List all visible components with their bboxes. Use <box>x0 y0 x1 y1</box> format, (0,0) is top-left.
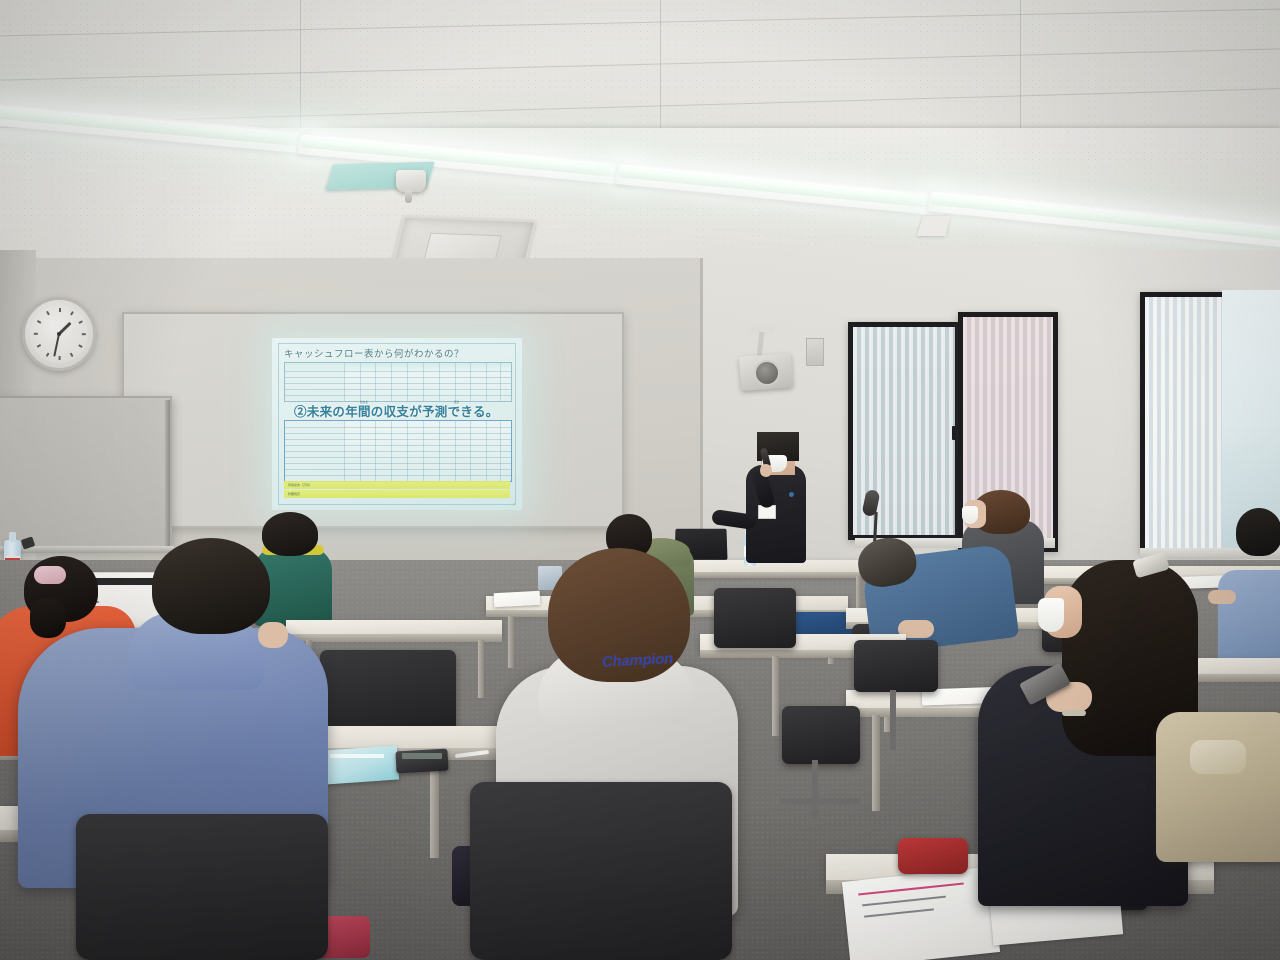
whiteboard-edge <box>165 400 170 548</box>
chair[interactable] <box>714 588 796 648</box>
beige-jacket-on-chair <box>1156 712 1280 862</box>
ceiling-tile-line <box>660 0 661 130</box>
slide-title: キャッシュフロー表から何がわかるの？ <box>284 346 464 360</box>
ceiling-sensor-icon <box>396 170 426 192</box>
slide-highlight-row-2: 貯蓄残高 <box>284 490 510 498</box>
attendee-back-right-hand <box>1208 590 1236 604</box>
chair-leg <box>890 690 896 750</box>
attendee-green-hair <box>262 512 318 556</box>
bracelet <box>1062 710 1086 716</box>
desk-leg <box>872 715 880 811</box>
attendee-blue-hoodie-hair <box>152 538 270 634</box>
chair[interactable] <box>76 814 328 960</box>
lapel-pin-icon <box>789 492 794 497</box>
presenter-hand <box>760 464 772 477</box>
wall-clock <box>22 297 96 371</box>
slide-highlight-label-1: 年間収支（万円） <box>288 483 312 487</box>
desk-leg <box>508 616 514 668</box>
projector-lens-icon <box>754 360 780 386</box>
attendee-back-right-body <box>1218 570 1280 662</box>
chair[interactable] <box>782 706 860 764</box>
brochure-band <box>330 754 384 758</box>
light-connector <box>917 216 951 236</box>
handout-paper[interactable] <box>494 591 541 607</box>
chair[interactable] <box>854 640 938 692</box>
attendee-back-right-hair <box>1236 508 1280 556</box>
chair-leg <box>812 760 818 818</box>
desk-leg <box>478 640 484 698</box>
clock-face <box>30 305 88 363</box>
calculator-display <box>402 753 442 759</box>
window-blinds[interactable] <box>1145 297 1231 549</box>
desk-leg <box>856 576 861 608</box>
face-mask-icon <box>1038 598 1064 632</box>
clock-minute-hand <box>53 334 60 357</box>
window-glass <box>1145 297 1231 549</box>
chair[interactable] <box>470 782 732 960</box>
slide-highlight-row-1: 年間収支（万円） <box>284 481 510 489</box>
slide-page-number: 7 <box>513 503 515 507</box>
chair[interactable] <box>320 650 456 736</box>
clock-center-pin <box>57 332 61 336</box>
seminar-room-photo: キャッシュフロー表から何がわかるの？ 収支表 累計 ②未来の年間の収支が予測でき… <box>0 0 1280 960</box>
desk-leg <box>430 758 439 858</box>
ceiling-tile-line <box>1020 0 1021 130</box>
slide-main-point: ②未来の年間の収支が予測できる。 <box>294 401 499 420</box>
window-handle[interactable] <box>952 426 956 440</box>
face-mask-icon <box>962 506 978 524</box>
ceiling-tile-line <box>300 0 301 130</box>
whiteboard <box>0 396 172 550</box>
ceiling-sensor-stem <box>405 190 412 203</box>
desk-leg <box>772 656 779 736</box>
projected-slide: キャッシュフロー表から何がわかるの？ 収支表 累計 ②未来の年間の収支が予測でき… <box>272 338 522 510</box>
slide-table-lower <box>284 420 512 482</box>
handout-paper[interactable] <box>842 866 1000 960</box>
sanitizer-pump <box>9 532 16 542</box>
brochure[interactable] <box>323 745 399 784</box>
slide-highlight-label-2: 貯蓄残高 <box>288 492 300 496</box>
jacket-fold <box>1190 740 1246 774</box>
attendee-blue-hoodie-hand <box>258 622 288 648</box>
wall-access-plate <box>806 338 824 366</box>
slide-table-upper <box>284 362 512 402</box>
red-bag <box>898 838 968 874</box>
hair-scrunchie <box>34 566 66 584</box>
presenter-desk-edge <box>672 572 872 578</box>
desk-edge <box>1192 674 1280 682</box>
chair-base <box>780 798 860 804</box>
attendee-orange-ponytail <box>30 598 66 638</box>
desk-edge <box>286 634 502 642</box>
